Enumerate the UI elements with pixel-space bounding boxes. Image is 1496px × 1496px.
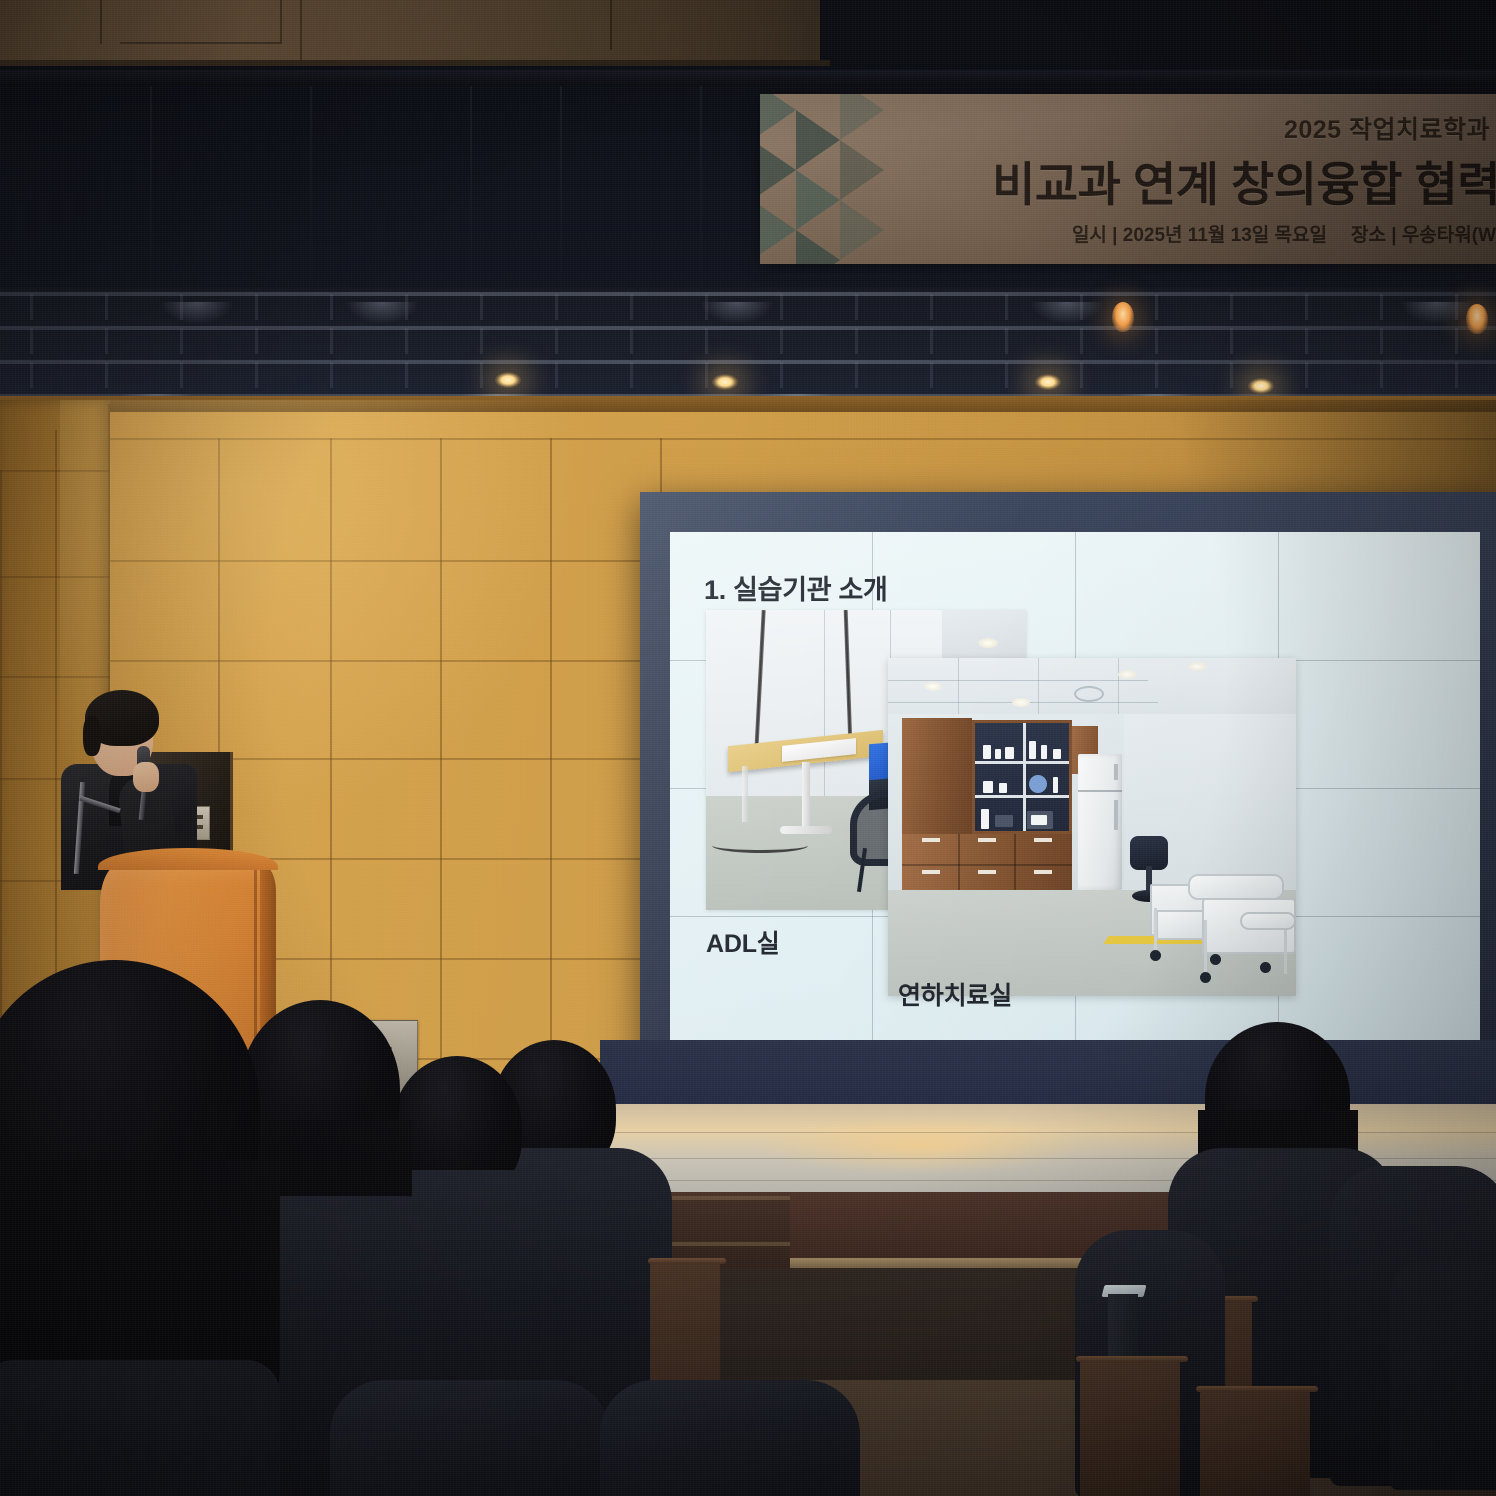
slide-title: 1. 실습기관 소개 (704, 568, 888, 607)
auditorium-photo: 2025 작업치료학과 비교과 연계 창의융합 협력 일시 | 2025년 11… (0, 0, 1496, 1496)
armrest-top (1076, 1356, 1188, 1362)
ceiling-soffit (0, 0, 820, 68)
armrest-top (1196, 1386, 1318, 1392)
presenter-hair (85, 690, 159, 746)
wall-seam (0, 676, 110, 678)
soffit-seam (300, 0, 302, 60)
wall-top-trim (0, 396, 1496, 412)
ceiling-spotlight (1035, 374, 1061, 390)
banner-line-1: 2025 작업치료학과 (1284, 110, 1490, 146)
banner-line-2: 비교과 연계 창의융합 협력 (992, 146, 1496, 215)
curtain-fold (700, 86, 702, 301)
soffit-seam (120, 42, 280, 44)
seat-cushion (0, 1360, 280, 1496)
ceiling-warm-light (1466, 304, 1488, 334)
wall-seam (0, 470, 110, 472)
wall-seam (0, 576, 110, 578)
banner-line-3: 일시 | 2025년 11월 13일 목요일장소 | 우송타워(W (1072, 220, 1496, 247)
soffit-seam (100, 0, 102, 44)
curtain-valance (0, 70, 1496, 86)
soffit-seam (280, 0, 282, 44)
wall-seam (110, 438, 1496, 440)
curtain-fold (470, 86, 472, 301)
ceiling-warm-light (1112, 302, 1134, 332)
audience-area (0, 960, 1496, 1496)
podium-top (98, 848, 278, 870)
seat-cushion (1390, 1260, 1496, 1490)
armrest-top (648, 1258, 726, 1264)
curtain-fold (310, 86, 312, 301)
armrest (1200, 1390, 1310, 1496)
ceiling-spotlight (712, 374, 738, 390)
curtain-fold (560, 86, 562, 301)
soffit-seam (610, 0, 612, 50)
armrest (1080, 1360, 1180, 1496)
ceiling-spotlight (1248, 378, 1274, 394)
banner-place: 장소 | 우송타워(W (1351, 225, 1496, 246)
ceiling-spotlight (495, 372, 521, 388)
banner-text-block: 2025 작업치료학과 비교과 연계 창의융합 협력 일시 | 2025년 11… (760, 94, 1496, 264)
seat (600, 1380, 860, 1496)
seat (330, 1380, 610, 1496)
slide-label-adl: ADL실 (706, 924, 780, 960)
wall-seam (660, 438, 662, 498)
slide-photo-swallowing-therapy-room (888, 658, 1296, 996)
banner-date: 일시 | 2025년 11월 13일 목요일 (1072, 225, 1327, 246)
presenter-hand (133, 762, 159, 792)
event-banner: 2025 작업치료학과 비교과 연계 창의융합 협력 일시 | 2025년 11… (760, 94, 1496, 264)
curtain-fold (150, 86, 152, 301)
